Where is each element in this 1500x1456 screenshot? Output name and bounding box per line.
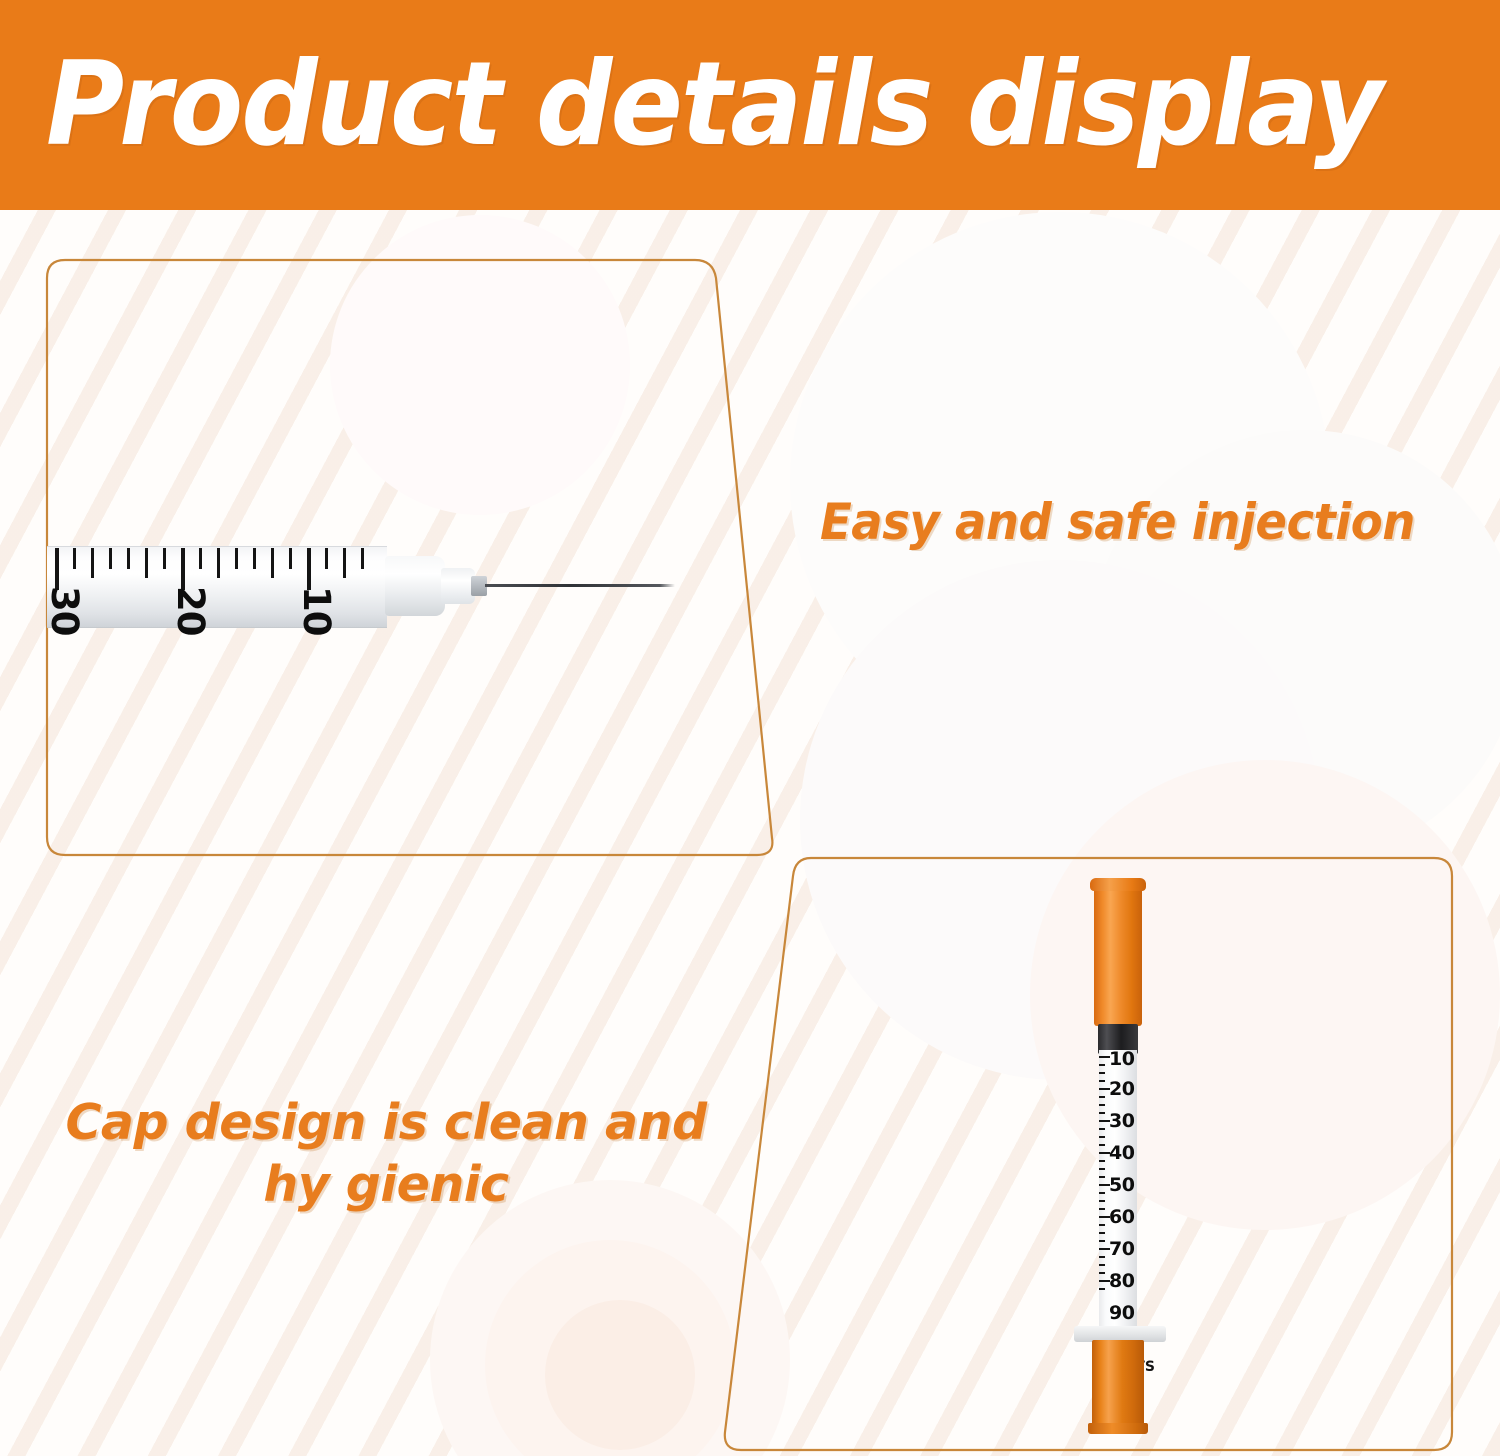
needle-cap-lip xyxy=(1090,878,1146,891)
background-circle xyxy=(485,1240,735,1456)
scale-tick xyxy=(1099,1208,1105,1210)
scale-tick xyxy=(55,548,59,590)
scale-tick xyxy=(361,548,364,569)
scale-tick xyxy=(109,548,112,569)
background-circle xyxy=(790,212,1330,752)
scale-tick xyxy=(1099,1288,1105,1290)
scale-tick xyxy=(1099,1144,1105,1146)
scale-number: 40 xyxy=(1109,1144,1134,1163)
scale-tick xyxy=(343,548,346,578)
needle-cap xyxy=(1094,878,1142,1026)
luer-lock xyxy=(441,568,475,604)
scale-number: 90 xyxy=(1109,1304,1134,1323)
scale-tick xyxy=(271,548,274,578)
scale-tick xyxy=(1099,1200,1105,1202)
scale-number: 50 xyxy=(1109,1176,1134,1195)
scale-number: 20 xyxy=(1109,1080,1134,1099)
background-circle xyxy=(330,215,630,515)
scale-tick xyxy=(163,548,166,569)
header-banner: Product details display xyxy=(0,0,1500,210)
product-detail-page: Product details display 30 20 10 xyxy=(0,0,1500,1456)
scale-number: 20 xyxy=(172,586,209,636)
scale-tick xyxy=(1099,1064,1105,1066)
scale-tick xyxy=(181,548,185,590)
scale-tick xyxy=(127,548,130,569)
background-circle xyxy=(545,1300,695,1450)
caption-cap-design: Cap design is clean and hy gienic xyxy=(46,1092,726,1216)
scale-tick xyxy=(1099,1224,1105,1226)
scale-number: 30 xyxy=(1109,1112,1134,1131)
page-title: Product details display xyxy=(46,30,1382,180)
plunger-rod xyxy=(1092,1340,1144,1426)
scale-tick xyxy=(253,548,256,569)
caption-easy-injection: Easy and safe injection xyxy=(820,492,1415,552)
needle xyxy=(485,584,675,587)
background-circle xyxy=(800,560,1320,1080)
scale-number: 70 xyxy=(1109,1240,1134,1259)
scale-tick xyxy=(1099,1104,1105,1106)
scale-tick xyxy=(1099,1072,1105,1074)
card-outlines xyxy=(0,0,1500,1456)
scale-tick xyxy=(1099,1160,1105,1162)
scale-tick xyxy=(1099,1232,1105,1234)
vertical-insulin-syringe: 10 20 30 40 50 60 70 80 90 100 UNITS xyxy=(1078,878,1162,1438)
scale-tick xyxy=(1099,1240,1105,1242)
background-circle xyxy=(430,1180,790,1456)
scale-number: 80 xyxy=(1109,1272,1134,1291)
scale-tick xyxy=(1099,1112,1105,1114)
scale-tick xyxy=(145,548,148,578)
scale-tick xyxy=(1099,1256,1105,1258)
scale-tick xyxy=(217,548,220,578)
scale-tick xyxy=(91,548,94,578)
scale-tick xyxy=(1099,1272,1105,1274)
scale-tick xyxy=(1099,1176,1105,1178)
scale-tick xyxy=(325,548,328,569)
background-stripes xyxy=(0,210,1500,1456)
scale-tick xyxy=(1099,1168,1105,1170)
scale-number: 60 xyxy=(1109,1208,1134,1227)
scale-number: 10 xyxy=(1109,1050,1134,1069)
scale-tick xyxy=(1099,1192,1105,1194)
scale-tick xyxy=(307,548,311,590)
scale-tick xyxy=(199,548,202,569)
syringe-neck xyxy=(385,556,445,616)
scale-number: 10 xyxy=(298,586,335,636)
scale-tick xyxy=(1099,1264,1105,1266)
scale-tick xyxy=(1099,1080,1105,1082)
scale-tick xyxy=(1099,1128,1105,1130)
scale-tick xyxy=(73,548,76,569)
horizontal-syringe: 30 20 10 xyxy=(47,540,637,632)
scale-tick xyxy=(1099,1096,1105,1098)
scale-tick xyxy=(1099,1136,1105,1138)
syringe-barrel: 10 20 30 40 50 60 70 80 90 100 UNITS xyxy=(1099,1050,1137,1326)
scale-number: 30 xyxy=(46,586,83,636)
plunger-thumb-pad xyxy=(1088,1423,1148,1434)
scale-tick xyxy=(235,548,238,569)
scale-tick xyxy=(289,548,292,569)
